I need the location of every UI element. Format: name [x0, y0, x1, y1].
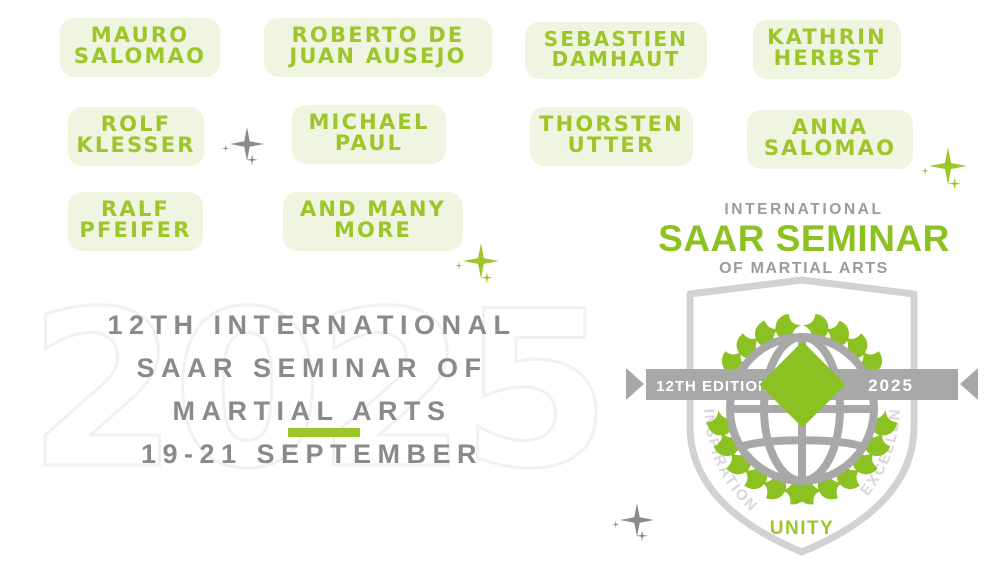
poster-canvas: MAUROSALOMAOROBERTO DEJUAN AUSEJOSEBASTI… [0, 0, 1000, 562]
instructor-name-line: SEBASTIEN [544, 29, 688, 49]
instructor-tag-rolf-klesser: ROLFKLESSER [68, 107, 204, 166]
instructor-tag-thorsten-utter: THORSTENUTTER [530, 107, 693, 166]
motto-unity: UNITY [612, 518, 992, 540]
headline-line-3: MARTIAL ARTS [42, 390, 582, 433]
instructor-tag-sebastien-damhaut: SEBASTIENDAMHAUT [525, 22, 707, 79]
sparkle-tiny-star [222, 145, 229, 152]
headline-underline-accent [288, 428, 360, 437]
sparkle-gray-left-icon [222, 127, 287, 181]
headline-line-1: 12TH INTERNATIONAL [42, 304, 582, 347]
banner-right-text: 2025 [868, 376, 914, 395]
headline-line-4: 19-21 SEPTEMBER [42, 433, 582, 476]
instructor-name-line: UTTER [568, 135, 656, 156]
logo-wordmark: INTERNATIONAL SAAR SEMINAR OF MARTIAL AR… [620, 200, 988, 279]
instructor-tag-ralf-pfeifer: RALFPFEIFER [68, 192, 203, 251]
instructor-tag-mauro-salomao: MAUROSALOMAO [60, 18, 220, 77]
instructor-name-line: MORE [334, 220, 412, 241]
sparkle-main-star [929, 147, 967, 185]
sparkle-tiny-star [921, 167, 929, 175]
instructor-name-line: ROLF [101, 114, 172, 135]
banner-left-text: 12TH EDITION [656, 378, 770, 395]
instructor-name-line: AND MANY [300, 199, 446, 220]
instructor-name-line: PAUL [335, 133, 403, 154]
wordmark-saar-seminar: SAAR SEMINAR [620, 219, 988, 258]
instructor-tag-kathrin-herbst: KATHRINHERBST [753, 20, 901, 79]
sparkle-main-star [230, 127, 264, 161]
instructor-name-line: PFEIFER [79, 220, 191, 241]
instructor-tag-roberto-de-juan-ausejo: ROBERTO DEJUAN AUSEJO [264, 18, 492, 77]
headline-line-2: SAAR SEMINAR OF [42, 347, 582, 390]
instructor-name-line: ROBERTO DE [292, 25, 465, 46]
banner-left-arrow [626, 368, 644, 400]
instructor-name-line: SALOMAO [764, 138, 896, 159]
instructor-name-line: DAMHAUT [552, 49, 681, 69]
sparkle-small-star [246, 154, 257, 165]
instructor-name-line: RALF [101, 199, 170, 220]
instructor-name-line: MAURO [91, 25, 190, 46]
center-diamond [759, 341, 845, 427]
instructor-tag-michael-paul: MICHAELPAUL [292, 105, 446, 164]
instructor-name-line: KATHRIN [767, 27, 887, 48]
banner-right-arrow [960, 368, 978, 400]
sparkle-green-top-right-icon [921, 147, 993, 208]
instructor-name-line: THORSTEN [539, 114, 684, 135]
instructor-name-line: MICHAEL [308, 112, 429, 133]
wordmark-international: INTERNATIONAL [620, 200, 988, 219]
instructor-name-line: KLESSER [76, 135, 195, 156]
instructor-name-line: JUAN AUSEJO [289, 46, 466, 67]
instructor-tag-anna-salomao: ANNASALOMAO [747, 110, 913, 169]
sparkle-small-star [948, 177, 961, 190]
instructor-name-line: SALOMAO [74, 46, 206, 67]
instructor-tag-and-many-more: AND MANYMORE [283, 192, 463, 251]
instructor-name-line: ANNA [792, 117, 868, 138]
event-headline: 12TH INTERNATIONAL SAAR SEMINAR OF MARTI… [42, 304, 582, 476]
instructor-name-line: HERBST [774, 48, 881, 69]
